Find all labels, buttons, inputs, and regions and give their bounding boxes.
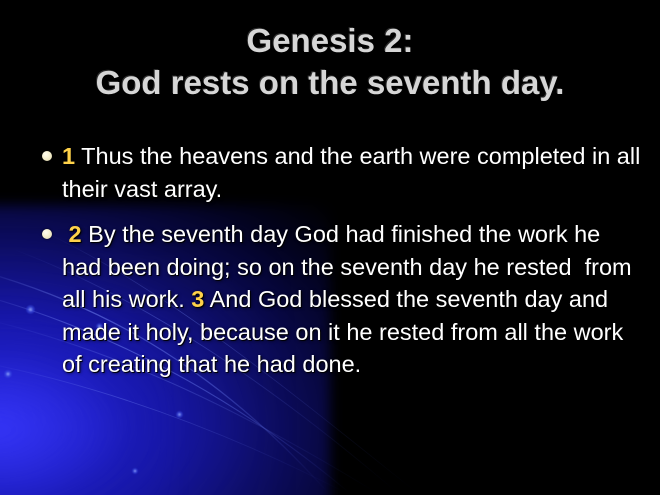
bullet-dot-icon — [42, 229, 52, 239]
bullet-dot-icon — [42, 151, 52, 161]
verse-number: 1 — [62, 143, 75, 169]
slide-title: Genesis 2: God rests on the seventh day. — [0, 20, 660, 104]
light-dot-decoration — [176, 411, 183, 418]
light-dot-decoration — [4, 370, 12, 378]
slide-body: 1 Thus the heavens and the earth were co… — [30, 140, 645, 394]
verse-number: 2 — [69, 221, 82, 247]
bullet-text-2: 2 By the seventh day God had finished th… — [62, 221, 638, 377]
verse-text: Thus the heavens and the earth were comp… — [62, 143, 647, 202]
title-line-1: Genesis 2: — [0, 20, 660, 62]
presentation-slide: Genesis 2: God rests on the seventh day.… — [0, 0, 660, 495]
list-item: 2 By the seventh day God had finished th… — [30, 218, 645, 381]
verse-number: 3 — [191, 286, 204, 312]
title-line-2: God rests on the seventh day. — [0, 62, 660, 104]
bullet-text-1: 1 Thus the heavens and the earth were co… — [62, 143, 647, 202]
list-item: 1 Thus the heavens and the earth were co… — [30, 140, 645, 205]
light-dot-decoration — [132, 468, 138, 474]
